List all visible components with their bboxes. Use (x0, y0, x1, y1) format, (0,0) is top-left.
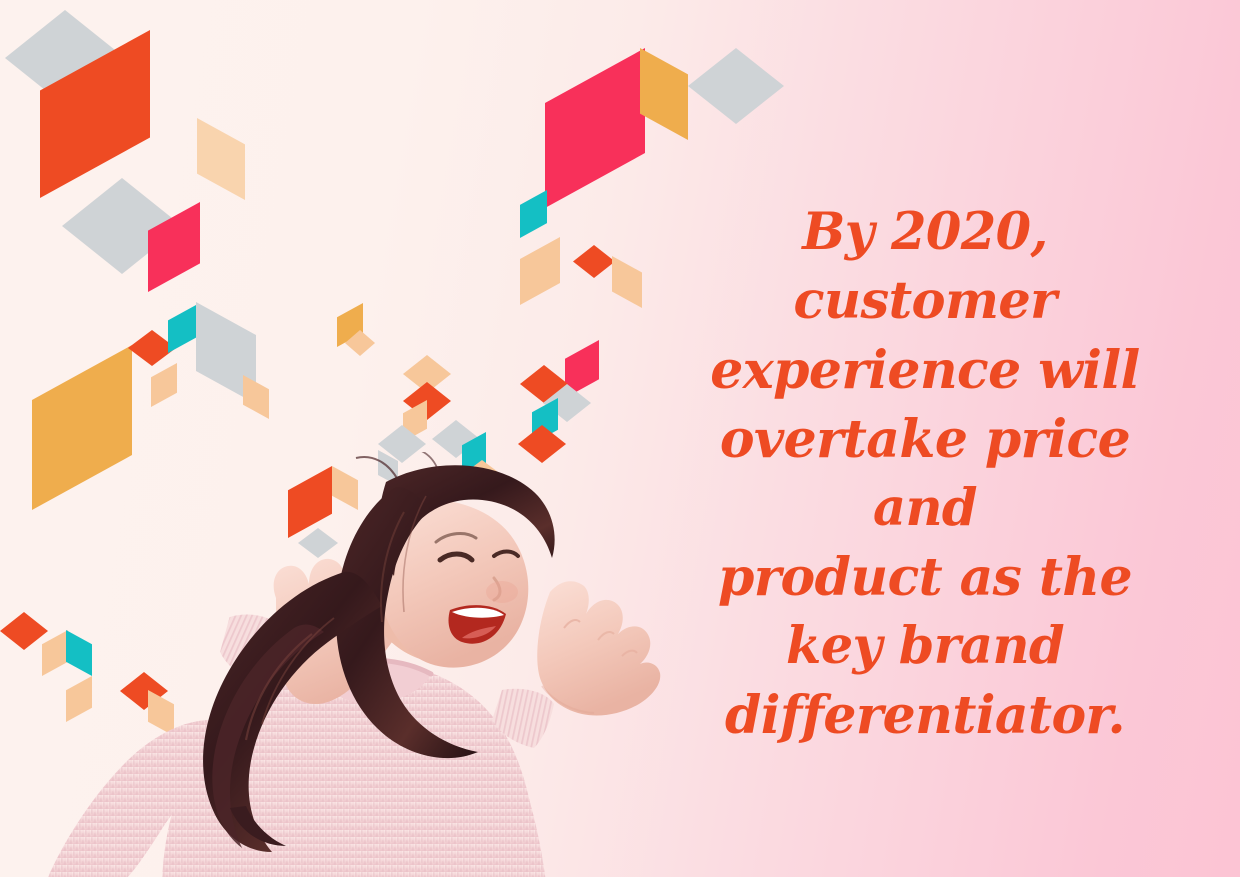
amber-large-left-mid (32, 345, 132, 510)
orange-large-face-left (40, 30, 150, 198)
teal-face-mid-top (520, 190, 547, 238)
tan-face-hand-left (42, 630, 68, 676)
tan-face-small-b (243, 375, 269, 419)
quote-line-5: and (690, 474, 1160, 543)
teal-face-hand-left (66, 630, 92, 676)
quote-line-7: key brand (690, 612, 1160, 681)
tan-face-below-teal (520, 237, 560, 305)
sweater (162, 660, 542, 877)
tan-face-right-mid (612, 256, 642, 308)
head-and-hair (203, 452, 555, 852)
orange-diamond-right-2 (518, 425, 566, 463)
tan-face-hand-left-2 (66, 676, 92, 722)
orange-small-diamond-mid (573, 245, 615, 278)
quote-line-1: By 2020, (690, 198, 1160, 267)
pinkred-large-top-mid (545, 48, 645, 208)
amber-face-top-mid (640, 48, 688, 140)
grey-face-head (298, 528, 338, 558)
left-arm-raised (46, 559, 414, 877)
quote-line-4: overtake price (690, 405, 1160, 474)
tan-face-head (332, 466, 358, 510)
quote-line-3: experience will (690, 336, 1160, 405)
grey-rhombus-top-right (688, 48, 784, 124)
tan-face-small-a (151, 363, 177, 407)
poster-canvas: By 2020,customerexperience willovertake … (0, 0, 1240, 877)
tan-face-right-upper (197, 118, 245, 200)
tan-face-wrist (148, 690, 174, 736)
pink-rhombus-left (148, 202, 200, 292)
quote-line-6: product as the (690, 543, 1160, 612)
tan-face-center-small (345, 330, 375, 356)
quote-line-2: customer (690, 267, 1160, 336)
quote-text: By 2020,customerexperience willovertake … (690, 198, 1160, 750)
tan-diamond-center-2 (458, 460, 506, 496)
teal-face-left-mid (168, 305, 196, 353)
grey-sliver-head-right (378, 450, 398, 486)
orange-diamond-hand-left (0, 612, 48, 650)
laughing-woman-photo (0, 452, 674, 877)
right-arm-raised (446, 581, 660, 877)
quote-line-8: differentiator. (690, 681, 1160, 750)
